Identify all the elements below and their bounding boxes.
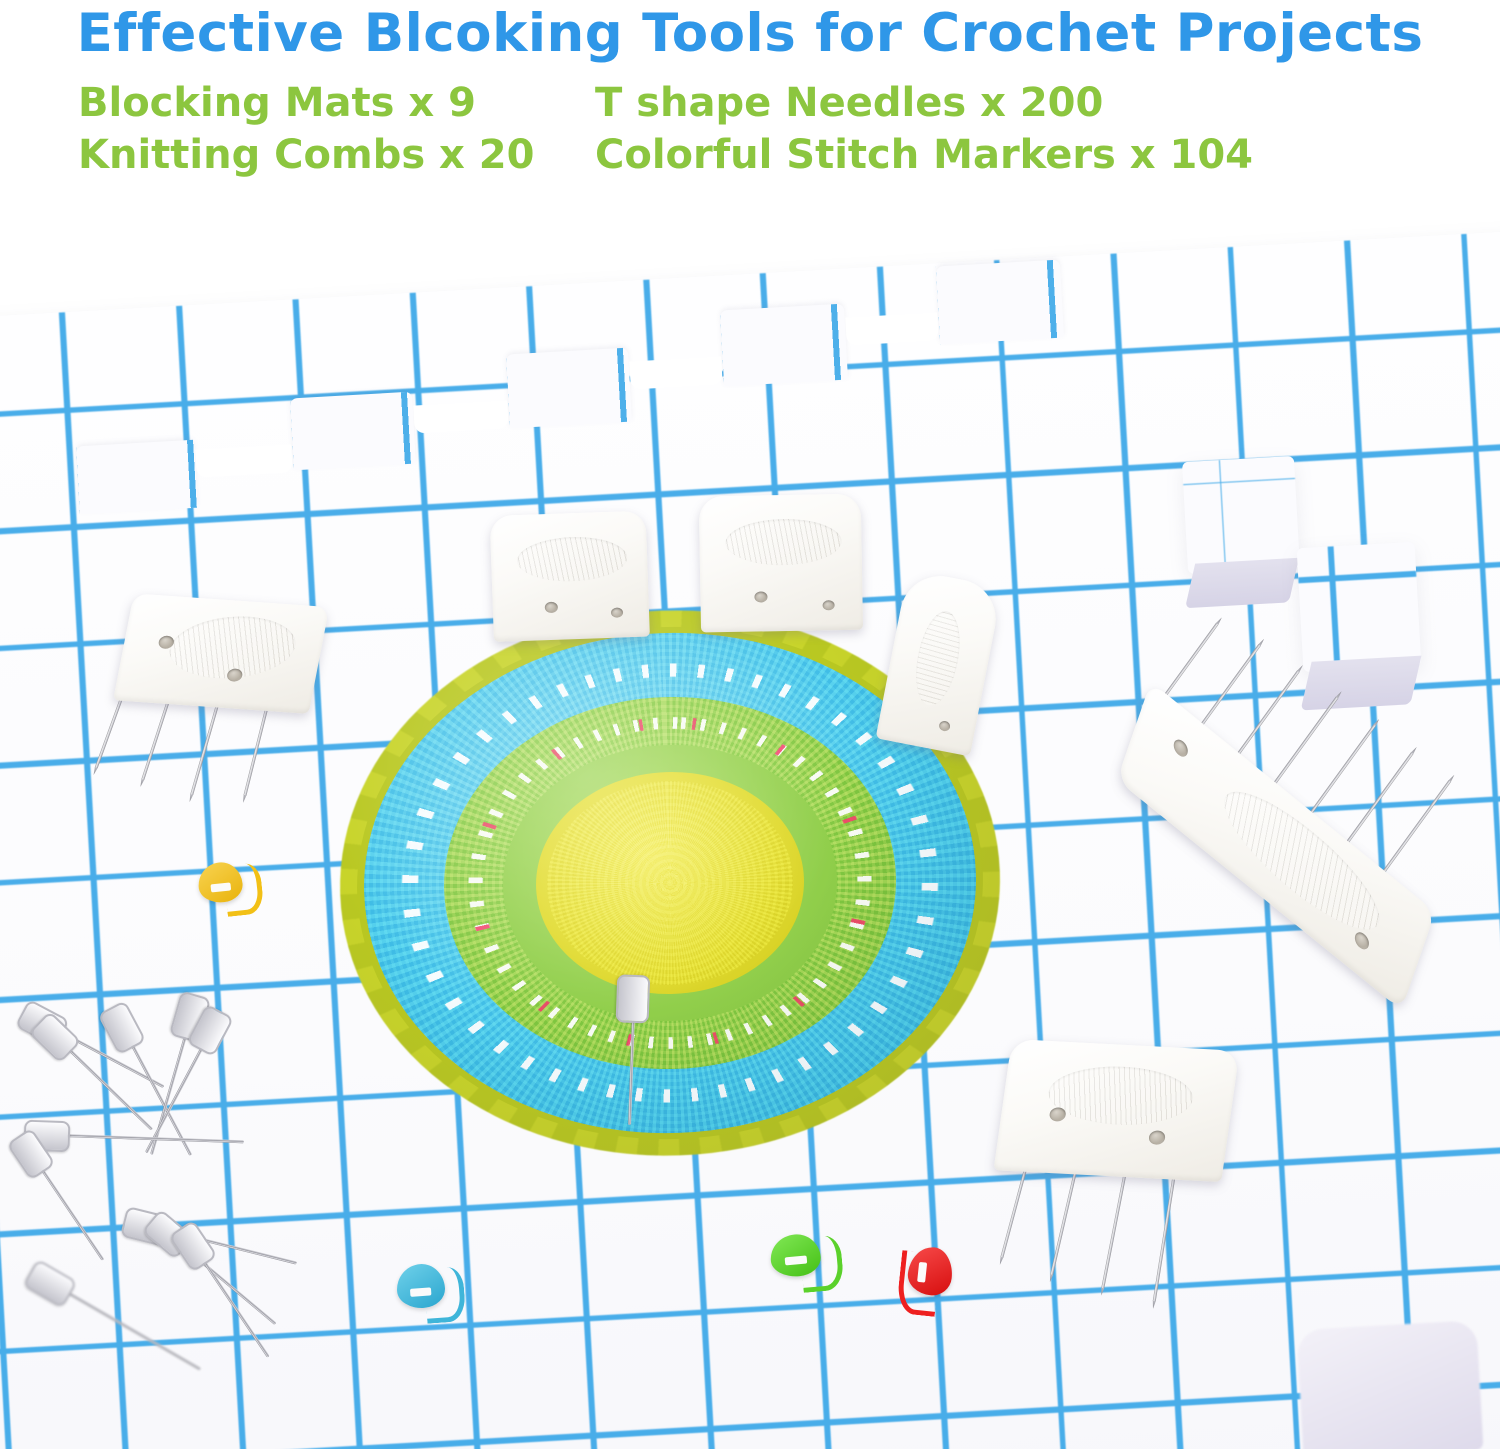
comb-grip (1215, 769, 1389, 952)
comb-body (699, 494, 863, 633)
mat-tab-5 (936, 260, 1064, 345)
mat-tab-2 (290, 392, 416, 471)
marker-hook (424, 1266, 467, 1324)
comb-hole (823, 600, 835, 610)
comb-hole (226, 668, 243, 682)
comb-pin (1101, 1161, 1129, 1289)
mat-tab-bottom-right (1297, 1320, 1484, 1449)
comb-hole (545, 602, 558, 613)
knitting-comb-top-2 (699, 493, 877, 646)
stitch-marker-blue (395, 1260, 478, 1345)
mat-notch-3 (629, 356, 722, 389)
comb-hole (938, 720, 951, 732)
comb-body (113, 593, 329, 713)
spec-stitch-markers: Colorful Stitch Markers x 104 (595, 130, 1500, 180)
spec-list: Blocking Mats x 9 T shape Needles x 200 … (0, 78, 1500, 180)
mat-tab-3 (506, 348, 632, 429)
stitch-marker-red (885, 1243, 970, 1342)
mat-tab-right-2-edge (1301, 656, 1422, 711)
mat-tab-right-2 (1297, 542, 1422, 672)
mat-notch-4 (845, 312, 938, 345)
comb-grip (909, 608, 967, 710)
spec-knitting-combs: Knitting Combs x 20 (0, 130, 595, 180)
mat-notch-2 (413, 400, 508, 433)
comb-hole (754, 591, 767, 602)
product-image: Effective Blcoking Tools for Crochet Pro… (0, 0, 1500, 1449)
mat-tab-1 (76, 440, 198, 514)
comb-hole (1353, 929, 1371, 953)
comb-grip (725, 518, 842, 566)
comb-grip (516, 535, 627, 583)
marker-hook (799, 1235, 845, 1293)
blocking-mat-scene (0, 215, 1500, 1449)
comb-hole (611, 607, 623, 617)
marker-hook (223, 862, 265, 917)
mat-notch-1 (195, 444, 292, 477)
knitting-comb-top-1 (490, 510, 665, 656)
mat-tab-4 (720, 304, 848, 387)
stitch-marker-yellow (196, 858, 273, 939)
marker-hook (896, 1250, 941, 1317)
knitting-comb-bottom-right (994, 1039, 1256, 1282)
mat-tab-right-1-edge (1185, 558, 1299, 608)
comb-hole (1172, 736, 1190, 760)
comb-body (490, 511, 650, 642)
comb-hole (1049, 1107, 1067, 1122)
knitting-comb-left (113, 593, 336, 807)
header-block: Effective Blcoking Tools for Crochet Pro… (0, 0, 1500, 180)
page-title: Effective Blcoking Tools for Crochet Pro… (0, 6, 1500, 62)
comb-hole (1148, 1130, 1166, 1145)
spec-t-needles: T shape Needles x 200 (595, 78, 1500, 128)
spec-blocking-mats: Blocking Mats x 9 (0, 78, 595, 128)
comb-body (994, 1039, 1240, 1182)
stitch-marker-green (769, 1230, 857, 1315)
comb-grip (1045, 1063, 1197, 1128)
mat-tab-right-1 (1182, 456, 1300, 574)
